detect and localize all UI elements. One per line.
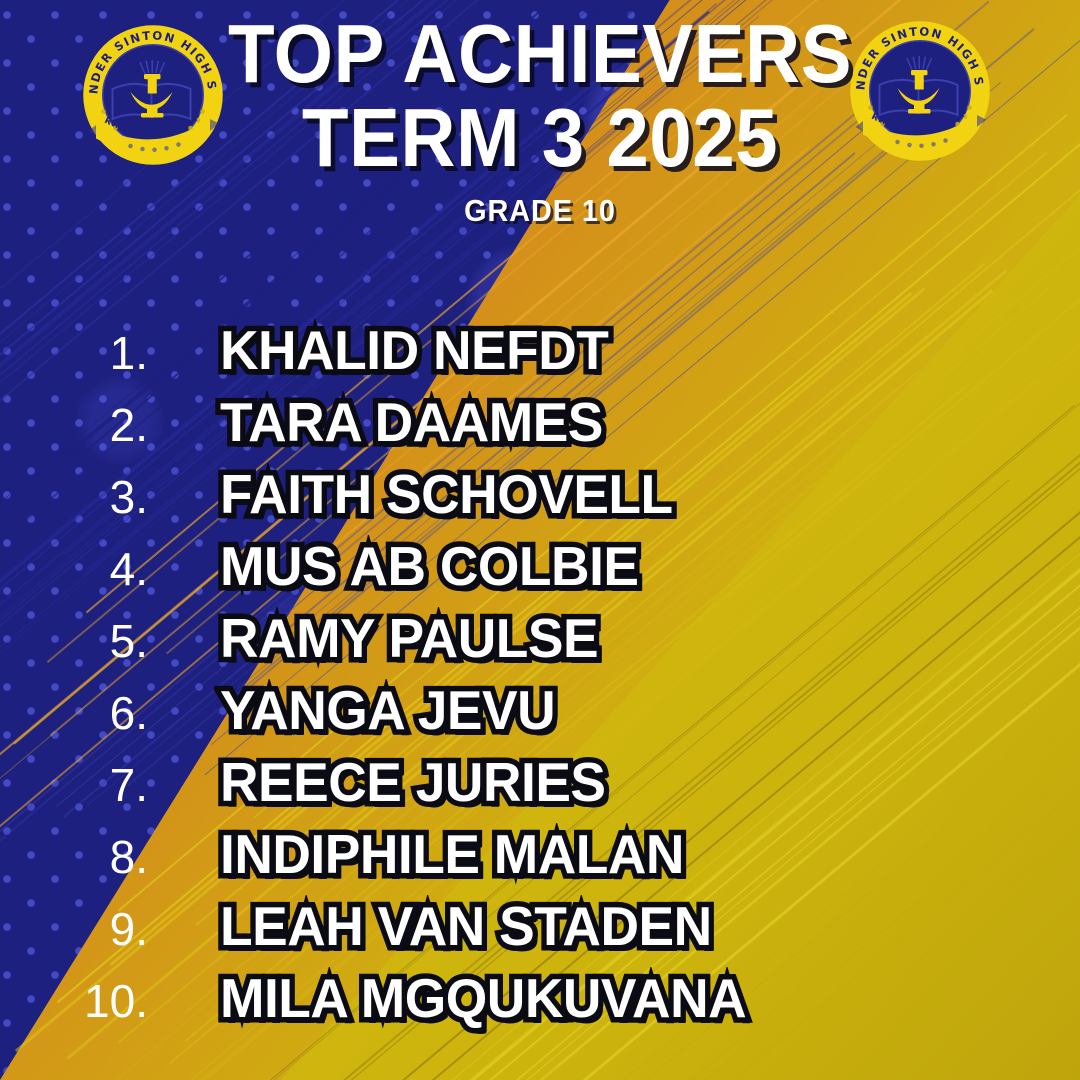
achiever-rank: 3. [0,470,148,524]
achiever-row: 1.KHALID NEFDT [0,318,1080,390]
achiever-rank: 8. [0,830,148,884]
achiever-rank: 1. [0,326,148,380]
poster-header: TOP ACHIEVERS TERM 3 2025 GRADE 10 [0,14,1080,229]
achiever-row: 3.FAITH SCHOVELL [0,462,1080,534]
poster-subtitle: GRADE 10 [38,193,1042,229]
achievers-list: 1.KHALID NEFDT2.TARA DAAMES3.FAITH SCHOV… [0,318,1080,1038]
achiever-rank: 10. [0,974,148,1028]
achiever-rank: 2. [0,398,148,452]
achiever-rank: 4. [0,542,148,596]
achiever-name: MUS AB COLBIE [220,534,639,598]
achievers-poster: ALEXANDER SINTON HIGH SCHOOL [0,0,1080,1080]
achiever-row: 9.LEAH VAN STADEN [0,894,1080,966]
achiever-name: INDIPHILE MALAN [220,822,684,886]
poster-title-line-1: TOP ACHIEVERS [43,14,1037,94]
achiever-name: KHALID NEFDT [220,318,608,382]
achiever-row: 6.YANGA JEVU [0,678,1080,750]
achiever-rank: 9. [0,902,148,956]
achiever-row: 8.INDIPHILE MALAN [0,822,1080,894]
achiever-row: 4.MUS AB COLBIE [0,534,1080,606]
achiever-name: TARA DAAMES [220,390,603,454]
achiever-row: 10.MILA MGQUKUVANA [0,966,1080,1038]
achiever-name: YANGA JEVU [220,678,555,742]
achiever-rank: 7. [0,758,148,812]
achiever-name: RAMY PAULSE [220,606,598,670]
poster-title-line-2: TERM 3 2025 [43,98,1037,178]
achiever-name: FAITH SCHOVELL [220,462,673,526]
achiever-rank: 6. [0,686,148,740]
achiever-name: MILA MGQUKUVANA [220,966,746,1030]
achiever-row: 2.TARA DAAMES [0,390,1080,462]
achiever-row: 7.REECE JURIES [0,750,1080,822]
achiever-rank: 5. [0,614,148,668]
achiever-name: REECE JURIES [220,750,606,814]
achiever-row: 5.RAMY PAULSE [0,606,1080,678]
achiever-name: LEAH VAN STADEN [220,894,712,958]
